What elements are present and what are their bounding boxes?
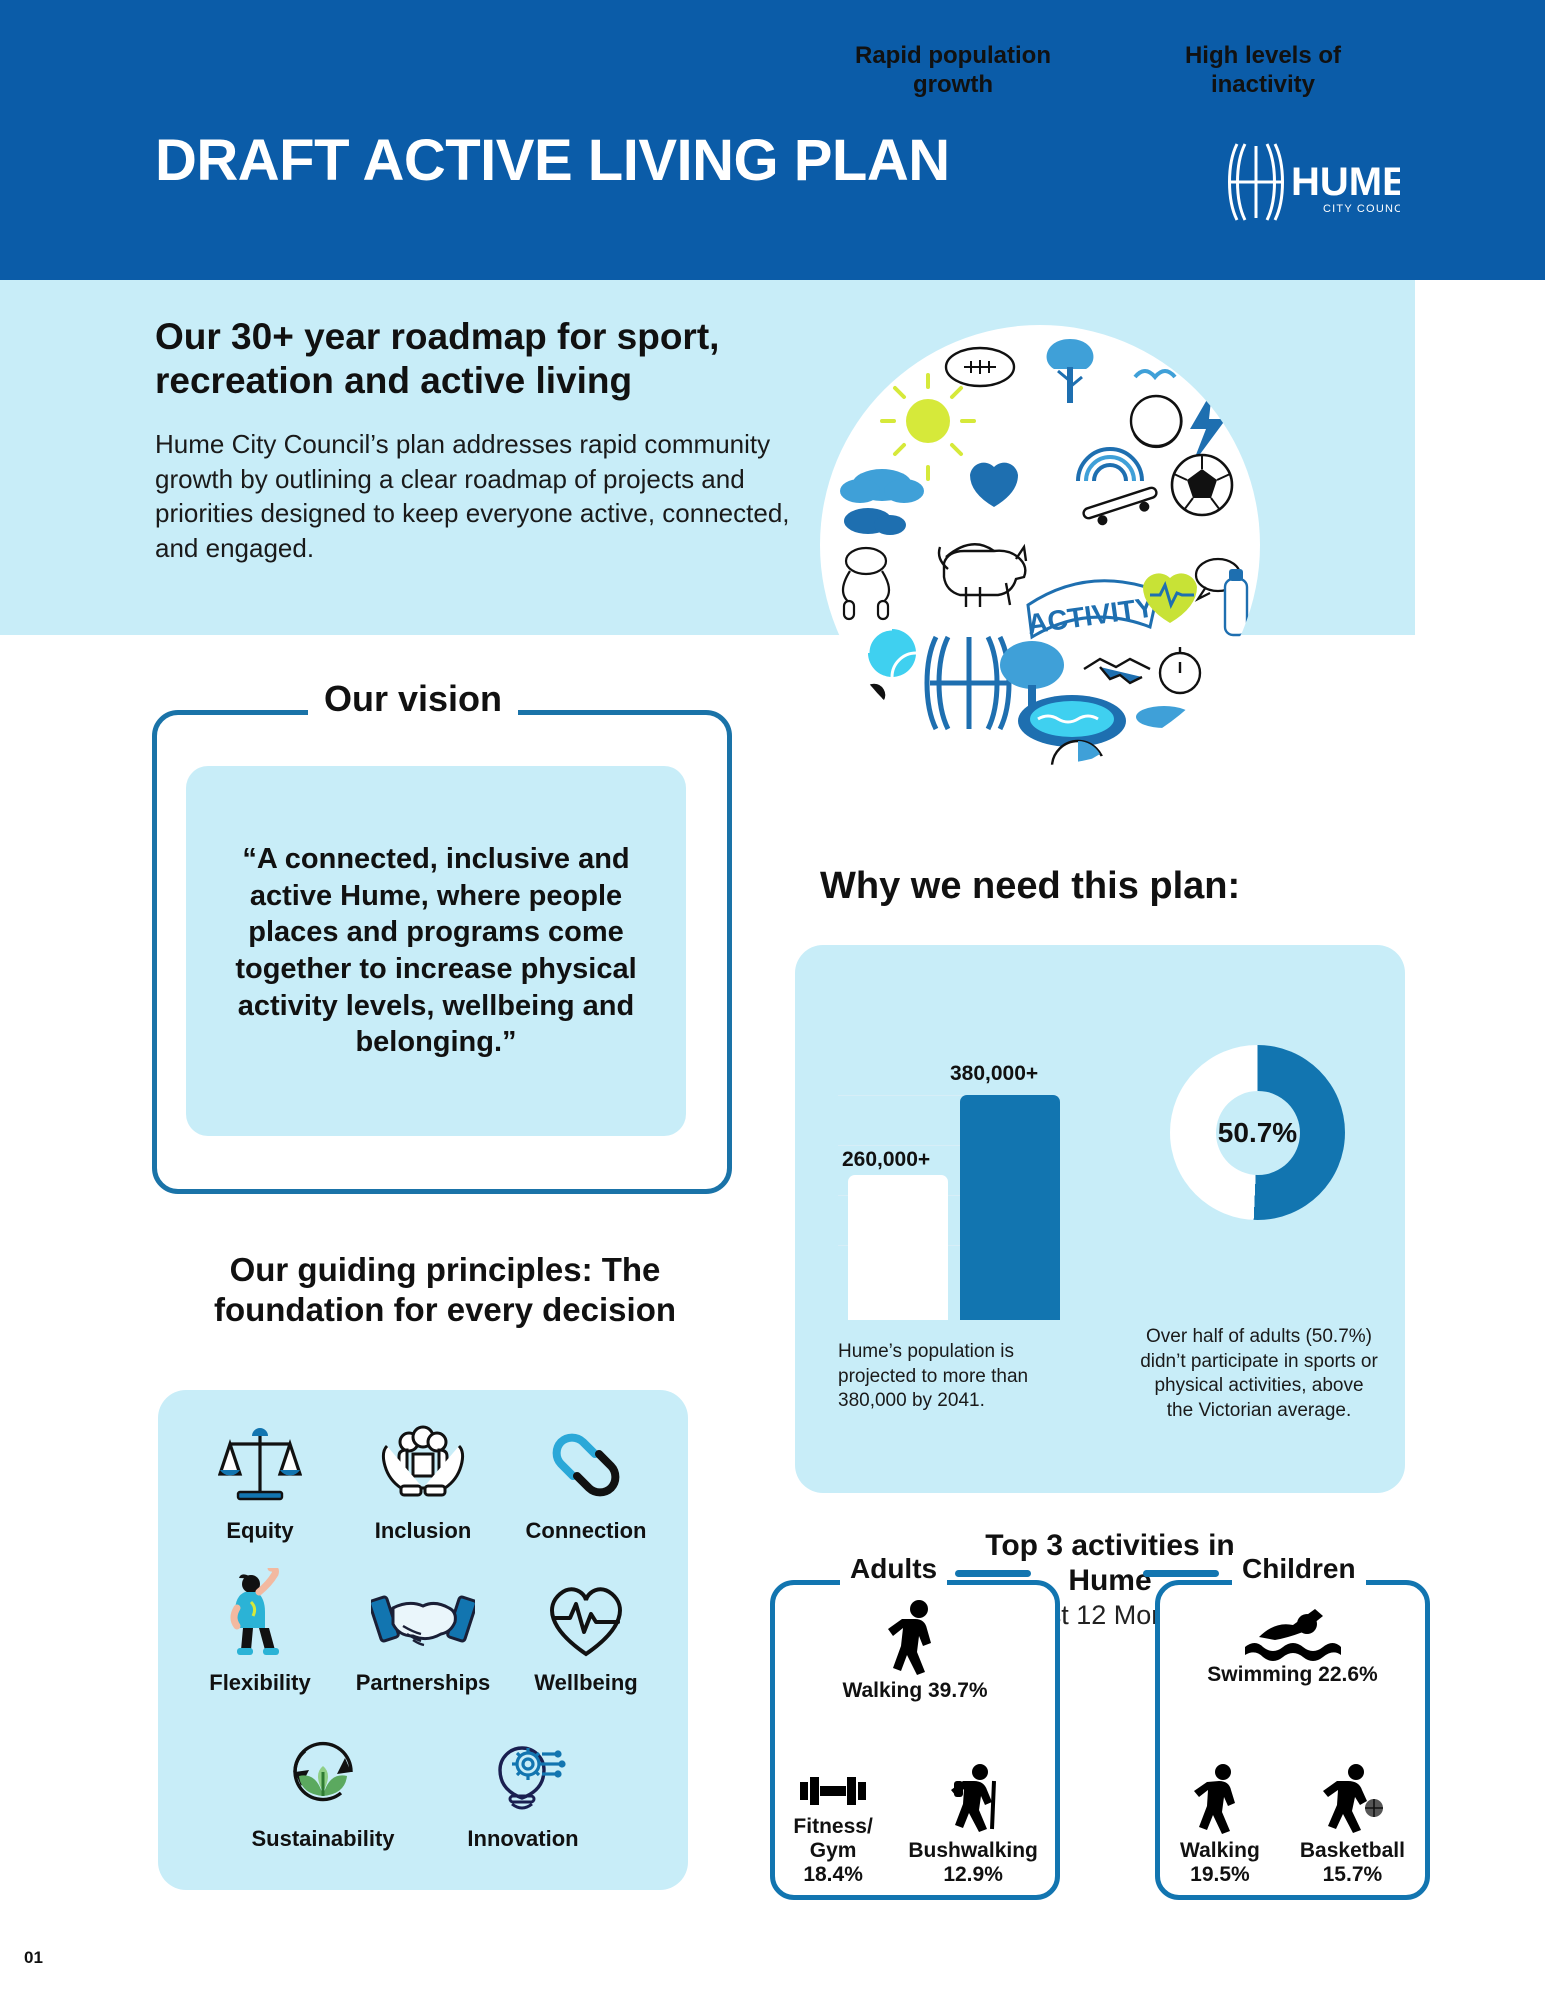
bar-projected-population bbox=[960, 1095, 1060, 1320]
principle-connection[interactable]: Connection bbox=[505, 1416, 668, 1544]
principle-flexibility[interactable]: Flexibility bbox=[179, 1568, 342, 1696]
children-rule bbox=[1143, 1570, 1219, 1577]
stretching-person-icon bbox=[179, 1568, 342, 1660]
children-swimming-caption: Swimming 22.6% bbox=[1160, 1663, 1425, 1687]
swimmer-icon bbox=[1160, 1599, 1425, 1661]
principles-row-2: Flexibility Partnerships bbox=[176, 1568, 670, 1696]
principles-heading: Our guiding principles: The foundation f… bbox=[150, 1250, 740, 1331]
vision-quote-text: “A connected, inclusive and active Hume,… bbox=[220, 841, 652, 1060]
principles-row-1: Equity Inclusion bbox=[176, 1416, 670, 1544]
children-basketball-caption: Basketball 15.7% bbox=[1300, 1839, 1405, 1887]
adults-fitness-gym-caption: Fitness/ Gym 18.4% bbox=[792, 1815, 874, 1887]
principle-label: Equity bbox=[179, 1518, 342, 1544]
adults-bushwalking[interactable]: Bushwalking 12.9% bbox=[908, 1763, 1038, 1887]
principle-label: Flexibility bbox=[179, 1670, 342, 1696]
principle-partnerships[interactable]: Partnerships bbox=[342, 1568, 505, 1696]
adults-walking-caption: Walking 39.7% bbox=[775, 1679, 1055, 1703]
chain-link-icon bbox=[505, 1416, 668, 1508]
adults-bushwalking-caption: Bushwalking 12.9% bbox=[908, 1839, 1038, 1887]
children-swimming[interactable]: Swimming 22.6% bbox=[1160, 1599, 1425, 1687]
vision-label: Our vision bbox=[308, 678, 518, 720]
principle-sustainability[interactable]: Sustainability bbox=[223, 1724, 423, 1852]
lightbulb-gear-icon bbox=[423, 1724, 623, 1816]
principle-innovation[interactable]: Innovation bbox=[423, 1724, 623, 1852]
principle-equity[interactable]: Equity bbox=[179, 1416, 342, 1544]
bar-label-projected: 380,000+ bbox=[950, 1062, 1038, 1086]
adults-walking[interactable]: Walking 39.7% bbox=[775, 1599, 1055, 1703]
inactivity-note: Over half of adults (50.7%) didn’t parti… bbox=[1140, 1325, 1378, 1424]
principle-label: Innovation bbox=[423, 1826, 623, 1852]
why-heading: Why we need this plan: bbox=[820, 865, 1240, 908]
population-note: Hume’s population is projected to more t… bbox=[838, 1340, 1053, 1414]
page-title: DRAFT ACTIVE LIVING PLAN bbox=[155, 132, 950, 190]
activity-collage-graphic: ACTIVITY bbox=[820, 325, 1260, 765]
scales-icon bbox=[179, 1416, 342, 1508]
population-chart-heading: Rapid population growth bbox=[838, 42, 1068, 100]
principles-row-3: Sustainability bbox=[176, 1724, 670, 1852]
top3-adults-box: Walking 39.7% Fitness/ Gym 18.4% bbox=[770, 1580, 1060, 1900]
adults-fitness-gym[interactable]: Fitness/ Gym 18.4% bbox=[792, 1769, 874, 1887]
basketball-player-icon bbox=[1300, 1763, 1405, 1837]
vision-quote-card: “A connected, inclusive and active Hume,… bbox=[186, 766, 686, 1136]
heart-pulse-icon bbox=[505, 1568, 668, 1660]
inactivity-chart-heading: High levels of inactivity bbox=[1148, 42, 1378, 100]
hands-holding-people-icon bbox=[342, 1416, 505, 1508]
population-bar-chart: 260,000+ 380,000+ bbox=[838, 1070, 1060, 1320]
principle-label: Sustainability bbox=[223, 1826, 423, 1852]
principle-label: Inclusion bbox=[342, 1518, 505, 1544]
children-group-label: Children bbox=[1232, 1553, 1366, 1585]
children-basketball[interactable]: Basketball 15.7% bbox=[1300, 1763, 1405, 1887]
handshake-icon bbox=[342, 1568, 505, 1660]
adults-rule bbox=[955, 1570, 1031, 1577]
adults-group-label: Adults bbox=[840, 1553, 947, 1585]
principle-wellbeing[interactable]: Wellbeing bbox=[505, 1568, 668, 1696]
walking-person-icon bbox=[775, 1599, 1055, 1677]
intro-heading: Our 30+ year roadmap for sport, recreati… bbox=[155, 315, 875, 402]
principle-inclusion[interactable]: Inclusion bbox=[342, 1416, 505, 1544]
hiking-person-icon bbox=[908, 1763, 1038, 1837]
walking-person-icon bbox=[1180, 1763, 1260, 1837]
page-number: 01 bbox=[24, 1948, 43, 1968]
dumbbell-icon bbox=[792, 1769, 874, 1813]
intro-paragraph: Hume City Council’s plan addresses rapid… bbox=[155, 427, 815, 565]
bar-label-current: 260,000+ bbox=[842, 1148, 930, 1172]
hume-city-council-logo: HUME CITY COUNCIL bbox=[1215, 140, 1400, 225]
principle-label: Partnerships bbox=[342, 1670, 505, 1696]
children-walking-caption: Walking 19.5% bbox=[1180, 1839, 1260, 1887]
svg-text:HUME: HUME bbox=[1291, 160, 1400, 204]
principles-card: Equity Inclusion bbox=[158, 1390, 688, 1890]
children-walking[interactable]: Walking 19.5% bbox=[1180, 1763, 1260, 1887]
top3-children-box: Swimming 22.6% Walking 19.5% Basketba bbox=[1155, 1580, 1430, 1900]
principle-label: Wellbeing bbox=[505, 1670, 668, 1696]
plant-recycle-icon bbox=[223, 1724, 423, 1816]
bar-current-population bbox=[848, 1175, 948, 1320]
principle-label: Connection bbox=[505, 1518, 668, 1544]
svg-text:CITY COUNCIL: CITY COUNCIL bbox=[1323, 203, 1400, 215]
donut-center-value: 50.7% bbox=[1170, 1045, 1345, 1220]
inactivity-donut-chart: 50.7% bbox=[1170, 1045, 1345, 1220]
